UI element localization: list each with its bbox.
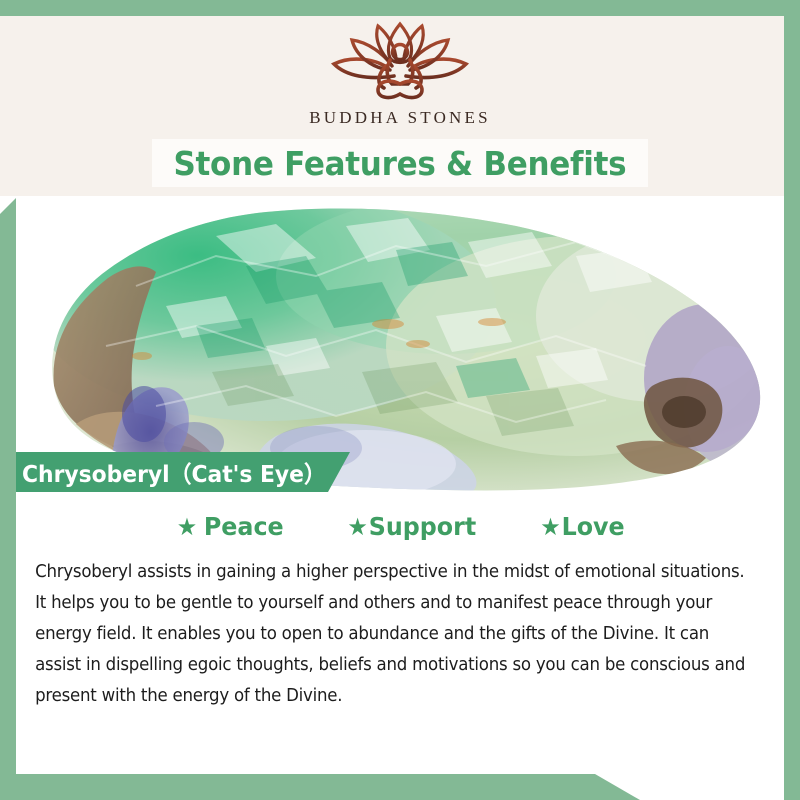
brand-name: BUDDHA STONES	[309, 108, 491, 128]
stone-name-banner: Chrysoberyl（Cat's Eye）	[0, 452, 350, 492]
frame-border-top	[0, 0, 800, 16]
benefit-item-love: ★ Love	[540, 512, 624, 541]
benefit-label: Love	[561, 512, 624, 541]
star-icon: ★	[540, 515, 560, 539]
benefit-label: Peace	[203, 512, 283, 541]
frame-border-right	[784, 0, 800, 800]
page-title-plaque: Stone Features & Benefits	[152, 139, 648, 187]
frame-border-left	[0, 196, 16, 800]
benefit-item-peace: ★ Peace	[176, 512, 283, 541]
brand-logo: BUDDHA STONES	[0, 18, 800, 128]
page-title: Stone Features & Benefits	[174, 144, 627, 183]
frame-border-bottom	[0, 774, 640, 800]
stone-photo	[16, 196, 784, 492]
star-icon: ★	[176, 515, 196, 539]
header-section: BUDDHA STONES Stone Features & Benefits	[0, 0, 800, 196]
benefit-label: Support	[369, 512, 476, 541]
benefit-item-support: ★ Support	[347, 512, 476, 541]
stone-info-card: BUDDHA STONES Stone Features & Benefits	[0, 0, 800, 800]
stone-description: Chrysoberyl assists in gaining a higher …	[16, 541, 770, 712]
benefits-list: ★ Peace ★ Support ★ Love	[16, 492, 784, 541]
star-icon: ★	[347, 515, 367, 539]
body-section: ★ Peace ★ Support ★ Love Chrysoberyl ass…	[16, 492, 784, 774]
lotus-meditation-figure-icon	[316, 18, 484, 104]
stone-name: Chrysoberyl（Cat's Eye）	[22, 455, 326, 489]
